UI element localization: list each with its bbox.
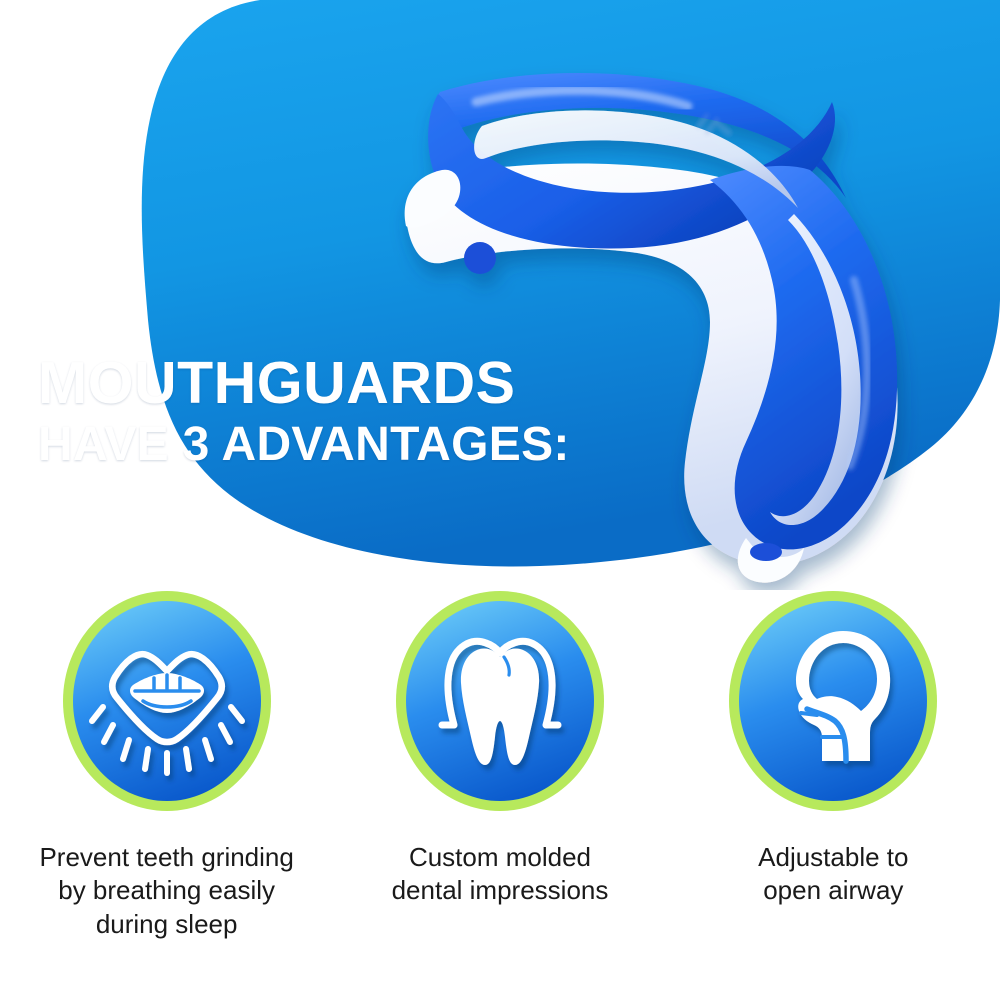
headline-line-2: HAVE 3 ADVANTAGES: [38,415,738,475]
mouthguard-blue-dot [464,242,496,274]
badge-custom-molded [392,585,608,817]
feature-item-open-airway: Adjustable to open airway [676,585,991,908]
mouth-line [801,713,817,715]
infographic-poster: MOUTHGUARDS HAVE 3 ADVANTAGES: [0,0,1000,1000]
mouthguard-blue-dot-2 [750,543,782,561]
feature-caption: Custom molded dental impressions [392,841,609,908]
badge-open-airway [725,585,941,817]
feature-item-custom-molded: Custom molded dental impressions [342,585,657,908]
headline-line-1: MOUTHGUARDS [38,352,738,415]
mouthguard-product-image [380,30,1000,590]
feature-list: Prevent teeth grinding by breathing easi… [0,585,1000,941]
feature-caption: Prevent teeth grinding by breathing easi… [39,841,293,941]
headline: MOUTHGUARDS HAVE 3 ADVANTAGES: [38,352,738,475]
feature-caption: Adjustable to open airway [758,841,908,908]
badge-prevent-grinding [59,585,275,817]
feature-item-prevent-grinding: Prevent teeth grinding by breathing easi… [9,585,324,941]
